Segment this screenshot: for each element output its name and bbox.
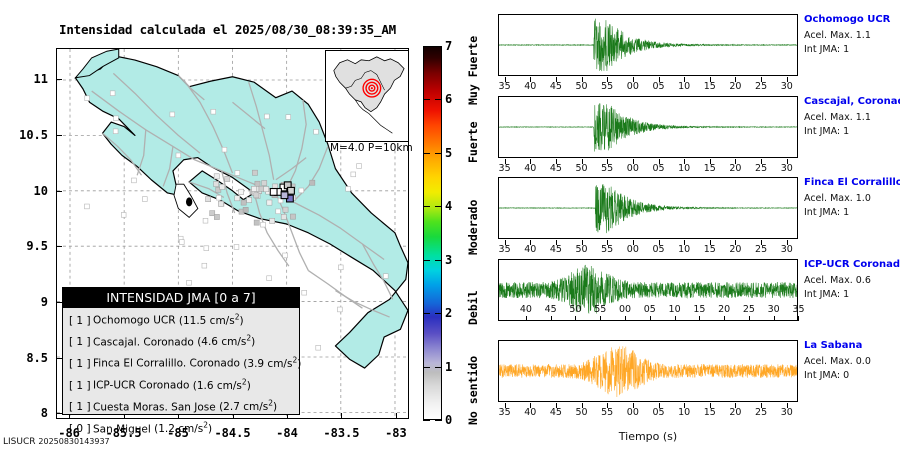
station-info: Finca El Corralillo, CoroAcel. Max. 1.0I… — [804, 177, 900, 218]
colorbar-tick — [423, 153, 430, 154]
map-y-tick-label: 10.5 — [0, 128, 48, 142]
station-jma-intensity: Int JMA: 1 — [804, 126, 900, 137]
seismogram-waveform — [499, 178, 797, 238]
legend-station-name: Cascajal. Coronado — [93, 336, 194, 348]
legend-station-name: ICP-UCR Coronado — [93, 380, 189, 392]
map-y-tick-label: 11 — [0, 72, 48, 86]
legend-acceleration: (11.5 cm/s2) — [179, 315, 244, 327]
intensity-legend: INTENSIDAD JMA [0 a 7] [ 1 ]Ochomogo UCR… — [62, 287, 300, 415]
epicenter-marker — [363, 79, 381, 97]
station-max-acceleration: Acel. Max. 0.0 — [804, 356, 900, 367]
time-axis: 354045505500051015202530 — [498, 403, 798, 417]
time-tick-label: 35 — [783, 304, 813, 315]
map-y-tick-label: 9.5 — [0, 239, 48, 253]
seismogram-waveform — [499, 341, 797, 401]
jma-intensity-colorbar — [423, 46, 442, 420]
colorbar-category-label: Muy Fuerte — [466, 35, 480, 104]
legend-row: [ 1 ]Cuesta Moras. San Jose (2.7 cm/s2) — [63, 395, 299, 417]
time-tick — [774, 316, 775, 321]
legend-title: INTENSIDAD JMA [0 a 7] — [63, 288, 299, 308]
time-tick — [551, 316, 552, 321]
time-tick — [650, 316, 651, 321]
station-max-acceleration: Acel. Max. 1.1 — [804, 30, 900, 41]
time-tick-label: 30 — [772, 81, 802, 92]
time-tick — [600, 316, 601, 321]
colorbar-tick — [423, 260, 430, 261]
time-axis-label: Tiempo (s) — [498, 430, 798, 443]
colorbar-tick — [435, 153, 442, 154]
legend-acceleration: (4.6 cm/s2) — [197, 336, 255, 348]
legend-row: [ 1 ]Finca El Corralillo. Coronado (3.9 … — [63, 351, 299, 373]
colorbar-tick-label: 6 — [445, 92, 452, 106]
time-tick — [575, 316, 576, 321]
colorbar-tick — [435, 206, 442, 207]
seismogram-trace-box[interactable] — [498, 96, 798, 158]
legend-station-name: Ochomogo UCR — [93, 315, 176, 327]
inset-geometry — [326, 51, 408, 141]
colorbar-tick — [423, 367, 430, 368]
time-tick-label: 30 — [772, 163, 802, 174]
seismogram-trace-box[interactable] — [498, 14, 798, 76]
footer-agency: LISUCR — [3, 437, 36, 447]
station-max-acceleration: Acel. Max. 0.6 — [804, 275, 900, 286]
map-x-tick-label: -83 — [366, 426, 426, 440]
map-x-tick — [341, 413, 342, 419]
colorbar-tick — [423, 99, 430, 100]
legend-acceleration: (1.2 cm/s2) — [154, 423, 212, 435]
page-title: Intensidad calculada el 2025/08/30_08:39… — [0, 22, 455, 37]
time-axis: 354045505500051015202530 — [498, 240, 798, 254]
colorbar-tick-label: 2 — [445, 306, 452, 320]
time-tick-label: 30 — [772, 407, 802, 418]
magnitude-depth-annotation: M=4.0 P=10km — [330, 142, 413, 154]
station-name[interactable]: ICP-UCR Coronado — [804, 259, 900, 270]
colorbar-category-label: Debil — [466, 291, 480, 326]
map-x-tick — [396, 413, 397, 419]
colorbar-category-label: Fuerte — [466, 122, 480, 164]
time-tick — [699, 316, 700, 321]
time-tick — [675, 316, 676, 321]
station-info: Cascajal, CoronadoAcel. Max. 1.1Int JMA:… — [804, 96, 900, 137]
station-jma-intensity: Int JMA: 1 — [804, 207, 900, 218]
station-jma-intensity: Int JMA: 0 — [804, 370, 900, 381]
colorbar-category-label: No sentido — [466, 356, 480, 425]
time-tick — [798, 316, 799, 321]
legend-intensity-bracket: [ 1 ] — [69, 399, 93, 416]
legend-row: [ 1 ]Cascajal. Coronado (4.6 cm/s2) — [63, 330, 299, 352]
footer-code: 20250830143937 — [38, 437, 109, 446]
seismogram-trace-box[interactable] — [498, 177, 798, 239]
station-info: ICP-UCR CoronadoAcel. Max. 0.6Int JMA: 1 — [804, 259, 900, 300]
map-y-tick-label: 10 — [0, 184, 48, 198]
colorbar-tick — [435, 313, 442, 314]
map-y-tick — [56, 135, 62, 136]
station-name[interactable]: Cascajal, Coronado — [804, 96, 900, 107]
time-axis: 404550550005101520253035 — [498, 322, 798, 336]
station-jma-intensity: Int JMA: 1 — [804, 289, 900, 300]
legend-acceleration: (3.9 cm/s2) — [243, 358, 301, 370]
colorbar-tick-label: 0 — [445, 413, 452, 427]
time-tick-label: 30 — [772, 244, 802, 255]
colorbar-tick — [423, 313, 430, 314]
station-name[interactable]: Ochomogo UCR — [804, 14, 900, 25]
colorbar-tick-label: 5 — [445, 146, 452, 160]
time-tick — [749, 316, 750, 321]
time-axis: 354045505500051015202530 — [498, 77, 798, 91]
map-x-tick-label: -83.5 — [311, 426, 371, 440]
station-info: La SabanaAcel. Max. 0.0Int JMA: 0 — [804, 340, 900, 381]
legend-intensity-bracket: [ 1 ] — [69, 356, 93, 373]
colorbar-tick-label: 3 — [445, 253, 452, 267]
legend-acceleration: (1.6 cm/s2) — [193, 380, 251, 392]
station-max-acceleration: Acel. Max. 1.1 — [804, 112, 900, 123]
colorbar-tick-label: 7 — [445, 39, 452, 53]
legend-intensity-bracket: [ 0 ] — [69, 421, 93, 438]
colorbar-tick — [423, 46, 430, 47]
locator-inset-map[interactable] — [325, 50, 409, 142]
legend-intensity-bracket: [ 1 ] — [69, 334, 93, 351]
legend-acceleration: (2.7 cm/s2) — [219, 401, 277, 413]
colorbar-tick — [435, 46, 442, 47]
map-y-tick — [56, 246, 62, 247]
time-tick — [724, 316, 725, 321]
station-info: Ochomogo UCRAcel. Max. 1.1Int JMA: 1 — [804, 14, 900, 55]
colorbar-tick — [435, 420, 442, 421]
colorbar-tick-label: 4 — [445, 199, 452, 213]
legend-row: [ 1 ]Ochomogo UCR (11.5 cm/s2) — [63, 308, 299, 330]
seismogram-waveform — [499, 97, 797, 157]
legend-station-name: Cuesta Moras. San Jose — [93, 401, 216, 413]
colorbar-tick — [423, 420, 430, 421]
station-jma-intensity: Int JMA: 1 — [804, 44, 900, 55]
colorbar-tick — [435, 99, 442, 100]
map-y-tick-label: 8.5 — [0, 351, 48, 365]
map-y-tick-label: 8 — [0, 406, 48, 420]
legend-station-name: San Miguel — [93, 423, 151, 435]
colorbar-tick-label: 1 — [445, 360, 452, 374]
map-y-tick — [56, 191, 62, 192]
colorbar-category-label: Moderado — [466, 200, 480, 255]
legend-row: [ 1 ]ICP-UCR Coronado (1.6 cm/s2) — [63, 373, 299, 395]
legend-intensity-bracket: [ 1 ] — [69, 313, 93, 330]
colorbar-tick — [435, 260, 442, 261]
map-y-tick-label: 9 — [0, 295, 48, 309]
station-name[interactable]: Finca El Corralillo, Coro — [804, 177, 900, 188]
seismogram-waveform — [499, 15, 797, 75]
legend-row: [ 0 ]San Miguel (1.2 cm/s2) — [63, 417, 299, 439]
station-name[interactable]: La Sabana — [804, 340, 900, 351]
colorbar-tick — [423, 206, 430, 207]
seismogram-trace-box[interactable] — [498, 340, 798, 402]
footer: LISUCR 20250830143937 — [3, 437, 110, 447]
map-y-tick — [56, 79, 62, 80]
colorbar-tick — [435, 367, 442, 368]
legend-station-name: Finca El Corralillo. Coronado — [93, 358, 240, 370]
legend-intensity-bracket: [ 1 ] — [69, 378, 93, 395]
time-tick — [625, 316, 626, 321]
station-max-acceleration: Acel. Max. 1.0 — [804, 193, 900, 204]
legend-rows: [ 1 ]Ochomogo UCR (11.5 cm/s2)[ 1 ]Casca… — [63, 308, 299, 438]
time-axis: 354045505500051015202530 — [498, 159, 798, 173]
seismogram-panels: 354045505500051015202530Ochomogo UCRAcel… — [498, 14, 898, 444]
time-tick — [526, 316, 527, 321]
